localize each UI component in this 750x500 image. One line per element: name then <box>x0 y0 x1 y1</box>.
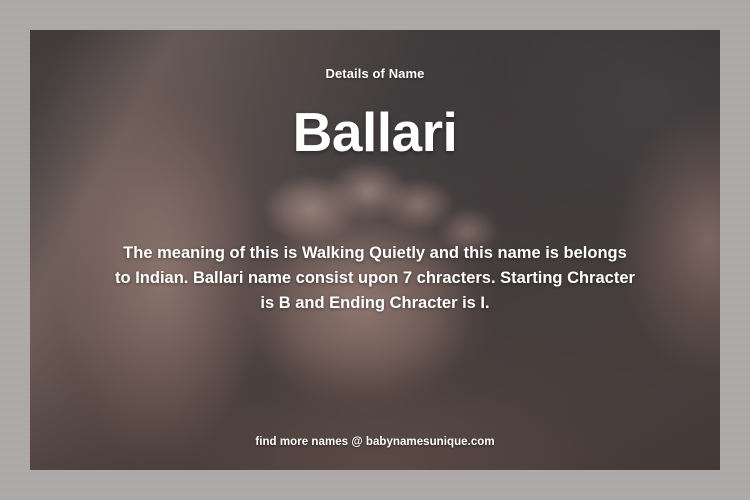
card-content: Details of Name Ballari The meaning of t… <box>30 30 720 470</box>
footer-attribution: find more names @ babynamesunique.com <box>30 436 720 448</box>
name-detail-graphic: Details of Name Ballari The meaning of t… <box>0 0 750 500</box>
card-kicker-label: Details of Name <box>325 66 424 81</box>
name-detail-card: Details of Name Ballari The meaning of t… <box>30 30 720 470</box>
name-title: Ballari <box>293 105 458 160</box>
name-description-text: The meaning of this is Walking Quietly a… <box>115 241 635 316</box>
